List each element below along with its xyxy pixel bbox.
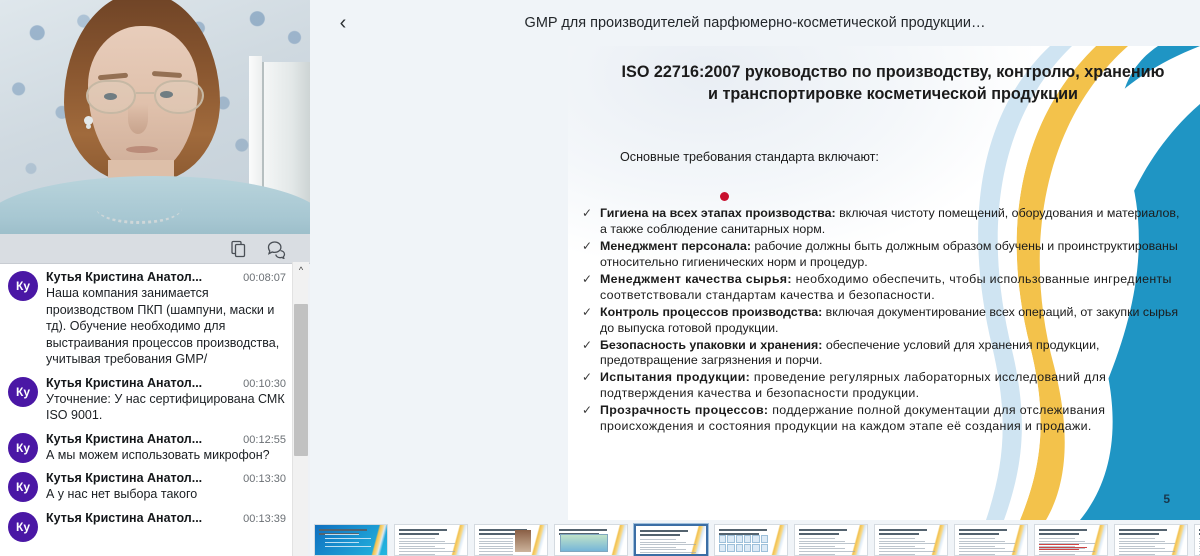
chat-message[interactable]: КуКутья Кристина Анатол...00:10:30Уточне…	[0, 370, 292, 426]
chat-message-body: Кутья Кристина Анатол...00:13:30А у нас …	[38, 471, 286, 503]
thumbnail-table-cell	[761, 535, 768, 543]
thumbnail-title-line	[719, 529, 767, 531]
thumbnail-text-line	[1039, 551, 1095, 552]
thumbnail-title-line	[1119, 533, 1159, 535]
avatar: Ку	[8, 271, 38, 301]
slide-bullet-item: ✓Менеджмент качества сырья: необходимо о…	[578, 272, 1184, 304]
webcam-video-tile[interactable]	[0, 0, 310, 234]
thumbnail-text-line	[325, 542, 359, 543]
chat-message-header: Кутья Кристина Анатол...00:08:07	[46, 270, 286, 284]
thumbnail-text-line	[399, 554, 435, 555]
thumbnail-text-line	[959, 551, 1015, 552]
thumbnail-text-line	[399, 538, 435, 539]
slide-thumbnail[interactable]	[794, 524, 868, 556]
left-sidebar: КуКутья Кристина Анатол...00:08:07Наша к…	[0, 0, 310, 556]
thumbnail-title-line	[559, 529, 607, 531]
thumbnail-title-line	[640, 530, 688, 532]
thumbnail-title-line	[879, 533, 919, 535]
thumbnail-text-line	[799, 543, 855, 544]
chat-author-name: Кутья Кристина Анатол...	[46, 376, 202, 390]
thumbnail-text-line	[399, 543, 455, 544]
thumbnail-text-line	[479, 554, 513, 555]
thumbnail-text-line	[1119, 546, 1155, 547]
thumbnail-text-line	[1039, 554, 1075, 555]
thumbnail-text-line	[799, 546, 835, 547]
checkmark-icon: ✓	[582, 239, 592, 254]
checkmark-icon: ✓	[582, 338, 592, 353]
bullet-term: Безопасность упаковки и хранения:	[600, 338, 822, 352]
slide-thumbnail[interactable]	[1034, 524, 1108, 556]
thumbnail-table-cell	[727, 544, 734, 552]
thumbnail-table-cell	[727, 535, 734, 543]
thumbnail-text-line	[799, 548, 845, 549]
chat-message-body: Кутья Кристина Анатол...00:08:07Наша ком…	[38, 270, 286, 368]
checkmark-icon: ✓	[582, 403, 592, 418]
thumbnail-text-line	[479, 546, 513, 547]
bullet-term: Испытания продукции:	[600, 370, 750, 384]
back-chevron-icon[interactable]: ‹	[326, 6, 360, 40]
chat-message-header: Кутья Кристина Анатол...00:12:55	[46, 432, 286, 446]
thumbnail-text-line	[640, 544, 696, 545]
thumbnail-table-cell	[736, 535, 743, 543]
thumbnail-text-line	[799, 538, 835, 539]
thumbnail-title-line	[1039, 533, 1079, 535]
chat-message[interactable]: КуКутья Кристина Анатол...00:08:07Наша к…	[0, 264, 292, 370]
thumbnail-highlight-line	[1039, 549, 1079, 550]
thumbnail-text-line	[1119, 541, 1165, 542]
slide-thumbnail[interactable]	[554, 524, 628, 556]
chat-message-text: Наша компания занимается производством П…	[46, 285, 286, 368]
thumbnail-swoosh	[771, 525, 787, 555]
thumbnail-text-line	[959, 541, 1005, 542]
chat-message-header: Кутья Кристина Анатол...00:10:30	[46, 376, 286, 390]
thumbnail-title-line	[319, 529, 367, 531]
slide-bullet-item: ✓Безопасность упаковки и хранения: обесп…	[578, 338, 1184, 370]
bullet-term: Гигиена на всех этапах производства:	[600, 206, 836, 220]
chat-timestamp: 00:10:30	[243, 378, 286, 390]
thumbnail-text-line	[959, 543, 1015, 544]
thumbnail-text-line	[879, 538, 915, 539]
avatar: Ку	[8, 377, 38, 407]
thumbnail-title-line	[1039, 529, 1087, 531]
slide-thumbnail[interactable]	[1114, 524, 1188, 556]
thumbnail-text-line	[1119, 554, 1155, 555]
chat-timestamp: 00:13:39	[243, 513, 286, 525]
thumbnail-text-line	[959, 538, 995, 539]
thumbnail-table-cell	[752, 535, 759, 543]
slide-bullet-item: ✓Гигиена на всех этапах производства: вк…	[578, 206, 1184, 238]
thumbnail-text-line	[879, 548, 925, 549]
thumbnail-text-line	[399, 551, 455, 552]
thumbnail-text-line	[640, 539, 676, 540]
slide-canvas[interactable]: ISO 22716:2007 руководство по производст…	[568, 46, 1200, 520]
thumbnail-text-line	[959, 546, 995, 547]
thumbnail-text-line	[879, 541, 925, 542]
avatar: Ку	[8, 433, 38, 463]
slide-thumbnail[interactable]	[714, 524, 788, 556]
chat-author-name: Кутья Кристина Анатол...	[46, 471, 202, 485]
thumbnail-text-line	[399, 548, 445, 549]
avatar: Ку	[8, 472, 38, 502]
chat-message-text: А у нас нет выбора такого	[46, 486, 286, 503]
meeting-presentation-window: КуКутья Кристина Анатол...00:08:07Наша к…	[0, 0, 1200, 556]
thumbnail-text-line	[879, 546, 915, 547]
participant-portrait	[0, 0, 310, 234]
chat-message-body: Кутья Кристина Анатол...00:13:39	[38, 511, 286, 542]
thumbnail-text-line	[479, 541, 513, 542]
slide-thumbnail[interactable]	[954, 524, 1028, 556]
thumbnail-text-line	[399, 541, 445, 542]
slide-intro-text: Основные требования стандарта включают:	[620, 150, 879, 164]
thumbnail-text-line	[799, 541, 845, 542]
chat-timestamp: 00:08:07	[243, 272, 286, 284]
thumbnail-table	[719, 535, 768, 552]
thumbnail-text-line	[879, 554, 915, 555]
slide-thumbnail[interactable]	[634, 524, 708, 556]
avatar: Ку	[8, 512, 38, 542]
thumbnail-text-line	[1119, 551, 1175, 552]
thumbnail-text-line	[1119, 543, 1175, 544]
chat-message[interactable]: КуКутья Кристина Анатол...00:13:30А у на…	[0, 465, 292, 505]
thumbnail-image	[560, 534, 608, 552]
chat-message-header: Кутья Кристина Анатол...00:13:30	[46, 471, 286, 485]
thumbnail-title-line	[959, 529, 1007, 531]
thumbnail-table-cell	[744, 535, 751, 543]
thumbnail-table-cell	[744, 544, 751, 552]
thumbnail-swoosh	[611, 525, 627, 555]
thumbnail-photo	[515, 530, 531, 552]
thumbnail-swoosh	[371, 525, 387, 555]
slide-bullet-item: ✓Прозрачность процессов: поддержание пол…	[578, 403, 1184, 435]
checkmark-icon: ✓	[582, 206, 592, 221]
presentation-title: GMP для производителей парфюмерно-космет…	[310, 15, 1200, 31]
thumbnail-text-line	[325, 538, 371, 539]
thumbnail-title-line	[399, 533, 439, 535]
thumbnail-text-line	[325, 534, 359, 535]
chat-scrollbar[interactable]: ^	[292, 262, 308, 556]
chat-message-text: А мы можем использовать микрофон?	[46, 447, 286, 464]
slide-thumbnail[interactable]	[474, 524, 548, 556]
thumbnail-text-line	[959, 548, 1005, 549]
bullet-term: Контроль процессов производства:	[600, 305, 822, 319]
chat-message[interactable]: КуКутья Кристина Анатол...00:13:39	[0, 505, 292, 544]
thumbnail-text-line	[879, 543, 935, 544]
thumbnail-table-cell	[719, 535, 726, 543]
thumbnail-text-line	[640, 552, 696, 553]
slide-bullet-item: ✓Контроль процессов производства: включа…	[578, 305, 1184, 337]
chat-author-name: Кутья Кристина Анатол...	[46, 432, 202, 446]
chat-timestamp: 00:13:30	[243, 473, 286, 485]
chat-message-body: Кутья Кристина Анатол...00:12:55А мы мож…	[38, 432, 286, 464]
thumbnail-title-line	[479, 533, 519, 535]
slide-thumbnail[interactable]	[314, 524, 388, 556]
thumbnail-text-line	[640, 542, 686, 543]
thumbnail-title-line	[399, 529, 447, 531]
slide-bullet-list: ✓Гигиена на всех этапах производства: вк…	[578, 206, 1184, 436]
red-bullet-dot	[720, 192, 729, 201]
slide-thumbnail[interactable]	[1194, 524, 1200, 556]
thumbnail-text-line	[479, 538, 513, 539]
bullet-term: Менеджмент персонала:	[600, 239, 751, 253]
slide-thumbnail[interactable]	[874, 524, 948, 556]
thumbnail-title-line	[799, 533, 839, 535]
thumbnail-text-line	[1039, 538, 1075, 539]
thumbnail-text-line	[479, 548, 513, 549]
scrollbar-thumb[interactable]	[294, 304, 308, 456]
thumbnail-text-line	[879, 551, 935, 552]
chat-message-header: Кутья Кристина Анатол...00:13:39	[46, 511, 286, 525]
thumbnail-highlight-line	[1039, 547, 1087, 548]
thumbnail-swoosh	[531, 525, 547, 555]
presentation-panel: ‹ GMP для производителей парфюмерно-косм…	[310, 0, 1200, 556]
chat-author-name: Кутья Кристина Анатол...	[46, 270, 202, 284]
chat-author-name: Кутья Кристина Анатол...	[46, 511, 202, 525]
thumbnail-table-cell	[736, 544, 743, 552]
chat-toolbar	[0, 234, 310, 264]
thumbnail-text-line	[799, 554, 835, 555]
thumbnail-table-cell	[761, 544, 768, 552]
thumbnail-title-line	[640, 534, 680, 536]
slide-thumbnail[interactable]	[394, 524, 468, 556]
chat-messages-icon[interactable]	[266, 238, 288, 260]
thumbnail-text-line	[325, 546, 371, 547]
bullet-term: Менеджмент качества сырья:	[600, 272, 792, 286]
thumbnail-highlight-line	[1039, 544, 1079, 545]
checkmark-icon: ✓	[582, 272, 592, 287]
chat-timestamp: 00:12:55	[243, 434, 286, 446]
slide-page-number: 5	[1163, 492, 1170, 506]
thumbnail-text-line	[640, 549, 686, 550]
presentation-header: ‹ GMP для производителей парфюмерно-косм…	[310, 0, 1200, 46]
chat-message[interactable]: КуКутья Кристина Анатол...00:12:55А мы м…	[0, 426, 292, 466]
thumbnail-title-line	[1119, 529, 1167, 531]
thumbnail-title-line	[959, 533, 999, 535]
slide-title: ISO 22716:2007 руководство по производст…	[616, 62, 1170, 106]
thumbnail-text-line	[959, 554, 995, 555]
thumbnail-text-line	[640, 555, 676, 556]
thumbnail-title-line	[799, 529, 847, 531]
scroll-up-arrow-icon[interactable]: ^	[293, 262, 309, 278]
thumbnail-table-cell	[719, 544, 726, 552]
chat-message-text: Уточнение: У нас сертифицирована СМК ISO…	[46, 391, 286, 424]
thumbnail-text-line	[799, 551, 855, 552]
chat-message-body: Кутья Кристина Анатол...00:10:30Уточнени…	[38, 376, 286, 424]
slide-bullet-item: ✓Менеджмент персонала: рабочие должны бы…	[578, 239, 1184, 271]
checkmark-icon: ✓	[582, 305, 592, 320]
checkmark-icon: ✓	[582, 370, 592, 385]
thumbnail-text-line	[399, 546, 435, 547]
thumbnail-text-line	[640, 547, 676, 548]
chat-message-list[interactable]: КуКутья Кристина Анатол...00:08:07Наша к…	[0, 264, 292, 556]
thumbnail-text-line	[1039, 541, 1085, 542]
thumbnail-text-line	[1119, 538, 1155, 539]
copy-documents-icon[interactable]	[228, 238, 250, 260]
thumbnail-swoosh	[690, 526, 706, 554]
slide-bullet-item: ✓Испытания продукции: проведение регуляр…	[578, 370, 1184, 402]
thumbnail-text-line	[1119, 548, 1165, 549]
thumbnail-table-cell	[752, 544, 759, 552]
thumbnail-title-line	[879, 529, 927, 531]
thumbnail-text-line	[479, 543, 513, 544]
slide-thumbnail-filmstrip[interactable]	[310, 520, 1200, 556]
bullet-term: Прозрачность процессов:	[600, 403, 768, 417]
thumbnail-text-line	[479, 551, 513, 552]
